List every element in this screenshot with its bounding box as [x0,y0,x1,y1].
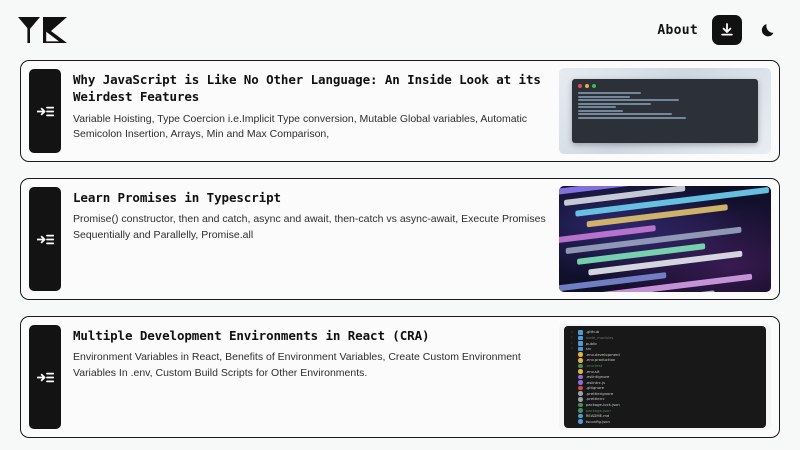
file-name: .eslintignore [586,375,610,379]
header-actions: About [657,15,780,45]
code-line [578,117,686,119]
folder-icon [578,330,583,335]
about-link[interactable]: About [657,23,698,38]
file-name: .prettierignore [586,392,613,396]
file-tree-row[interactable]: tsconfig.json [567,419,762,425]
code-line [578,106,616,108]
file-name: tsconfig.json [586,420,610,424]
card-body: Why JavaScript is Like No Other Language… [61,69,559,153]
code-line [578,113,672,115]
card-description: Variable Hoisting, Type Coercion i.e.Imp… [73,112,549,144]
card-open-tab[interactable] [29,69,61,153]
card-thumbnail: ›.github›node_modules›public›src.env.dev… [559,324,771,430]
card-title: Why JavaScript is Like No Other Language… [73,71,549,106]
card-thumbnail [559,186,771,292]
card-title: Learn Promises in Typescript [73,189,549,206]
file-icon [578,380,583,385]
download-button[interactable] [712,15,742,45]
file-name: .github [586,330,599,334]
terminal-screenshot-thumb [559,68,771,154]
file-icon [578,397,583,402]
file-name: node_modules [586,336,614,340]
card-thumbnail [559,68,771,154]
file-name: .env.test [586,364,602,368]
file-icon [578,414,583,419]
terminal-code-lines [578,92,753,119]
theme-toggle-button[interactable] [756,18,780,42]
file-tree: ›.github›node_modules›public›src.env.dev… [564,326,765,429]
article-card[interactable]: Learn Promises in Typescript Promise() c… [20,178,780,300]
code-line [578,103,651,105]
code-line [578,110,623,112]
chevron-right-icon: › [571,331,575,334]
traffic-light-dot [578,84,582,88]
arrow-into-list-icon [37,233,54,246]
folder-icon [578,336,583,341]
card-description: Promise() constructor, then and catch, a… [73,212,549,244]
file-name: README.md [586,414,610,418]
file-icon [578,364,583,369]
code-line [578,92,641,94]
yk-logo[interactable] [18,13,67,47]
card-description: Environment Variables in React, Benefits… [73,350,549,382]
y-mark-icon [18,15,40,45]
file-icon [578,408,583,413]
file-name: src [586,347,592,351]
download-icon [719,22,735,38]
file-name: .gitignore [586,386,604,390]
file-name: .prettierrc [586,397,605,401]
code-line [578,99,679,101]
arrow-into-list-icon [37,105,54,118]
card-title: Multiple Development Environments in Rea… [73,327,549,344]
card-body: Multiple Development Environments in Rea… [61,325,559,429]
file-name: package-lock.json [586,403,620,407]
file-name: .env.sit [586,370,600,374]
article-card[interactable]: Why JavaScript is Like No Other Language… [20,60,780,162]
file-icon [578,375,583,380]
file-icon [578,358,583,363]
code-line [578,96,630,98]
folder-icon [578,347,583,352]
file-icon [578,391,583,396]
file-name: .env.development [586,353,620,357]
article-card[interactable]: Multiple Development Environments in Rea… [20,316,780,438]
terminal-window [572,79,759,143]
file-icon [578,386,583,391]
code-photo-lines [559,186,771,292]
file-icon [578,403,583,408]
file-name: package.json [586,409,611,413]
folder-icon [578,341,583,346]
card-open-tab[interactable] [29,187,61,291]
file-icon [578,419,583,424]
k-mark-icon [43,15,67,45]
card-open-tab[interactable] [29,325,61,429]
article-card-list: Why JavaScript is Like No Other Language… [0,60,800,438]
site-header: About [0,0,800,60]
chevron-right-icon: › [571,342,575,345]
file-name: public [586,342,597,346]
traffic-light-dot [585,84,589,88]
moon-icon [760,22,777,39]
card-body: Learn Promises in Typescript Promise() c… [61,187,559,291]
file-icon [578,369,583,374]
traffic-light-dot [592,84,596,88]
angled-code-photo-thumb [559,186,771,292]
file-icon [578,352,583,357]
arrow-into-list-icon [37,371,54,384]
chevron-right-icon: › [571,336,575,339]
file-name: .eslintrc.js [586,381,605,385]
chevron-right-icon: › [571,347,575,350]
file-explorer-thumb: ›.github›node_modules›public›src.env.dev… [559,324,771,430]
terminal-traffic-lights [578,84,753,88]
file-name: .env.production [586,358,616,362]
